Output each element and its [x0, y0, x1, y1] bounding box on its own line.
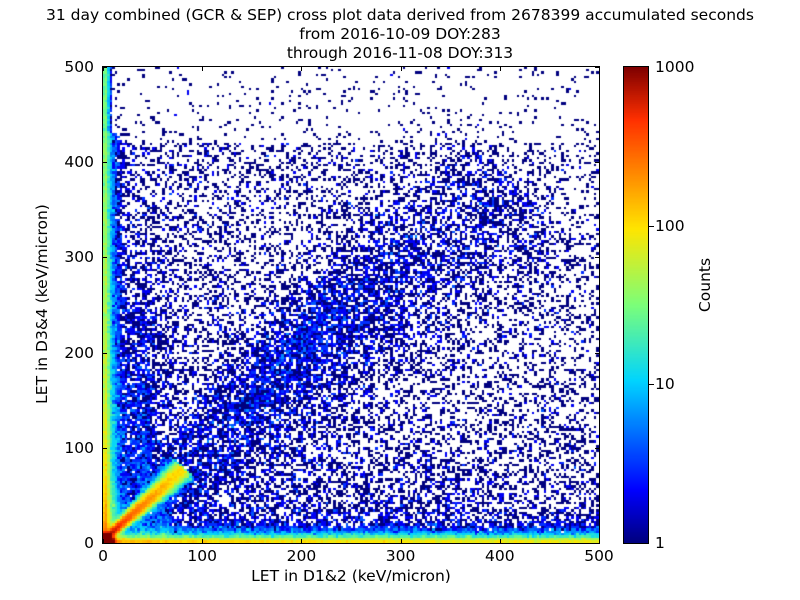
colorbar-tick-10 — [649, 384, 654, 385]
title-line-2: from 2016-10-09 DOY:283 — [0, 25, 800, 44]
x-tick-500 — [599, 539, 600, 543]
y-tick-500 — [103, 67, 107, 68]
x-tick-500 — [599, 67, 600, 71]
colorbar — [623, 66, 649, 544]
figure-title: 31 day combined (GCR & SEP) cross plot d… — [0, 6, 800, 63]
colorbar-tick-label-1: 1 — [655, 534, 665, 552]
y-tick-400 — [595, 162, 599, 163]
colorbar-gradient — [624, 67, 648, 543]
title-line-1: 31 day combined (GCR & SEP) cross plot d… — [0, 6, 800, 25]
y-tick-label-500: 500 — [34, 58, 94, 76]
let-cross-plot-canvas — [103, 67, 599, 543]
x-tick-label-400: 400 — [470, 547, 530, 565]
y-tick-500 — [595, 67, 599, 68]
x-axis-label: LET in D1&2 (keV/micron) — [102, 567, 600, 585]
colorbar-label: Counts — [696, 185, 714, 385]
y-tick-100 — [103, 448, 107, 449]
colorbar-tick-label-1000: 1000 — [655, 58, 694, 76]
x-tick-label-100: 100 — [172, 547, 232, 565]
y-tick-0 — [595, 543, 599, 544]
plot-area — [102, 66, 600, 544]
x-tick-300 — [401, 539, 402, 543]
x-tick-200 — [301, 67, 302, 71]
colorbar-tick-label-100: 100 — [655, 217, 685, 235]
y-tick-label-0: 0 — [34, 534, 94, 552]
y-tick-400 — [103, 162, 107, 163]
x-tick-label-200: 200 — [271, 547, 331, 565]
x-tick-300 — [401, 67, 402, 71]
y-tick-200 — [103, 353, 107, 354]
x-tick-label-300: 300 — [371, 547, 431, 565]
x-tick-100 — [202, 539, 203, 543]
x-tick-100 — [202, 67, 203, 71]
y-tick-100 — [595, 448, 599, 449]
colorbar-tick-label-10: 10 — [655, 375, 675, 393]
y-tick-300 — [595, 257, 599, 258]
x-tick-200 — [301, 539, 302, 543]
colorbar-tick-100 — [649, 226, 654, 227]
y-tick-200 — [595, 353, 599, 354]
y-tick-300 — [103, 257, 107, 258]
y-tick-0 — [103, 543, 107, 544]
x-tick-400 — [500, 539, 501, 543]
y-axis-label: LET in D3&4 (keV/micron) — [33, 154, 51, 454]
x-tick-label-500: 500 — [569, 547, 629, 565]
x-tick-400 — [500, 67, 501, 71]
